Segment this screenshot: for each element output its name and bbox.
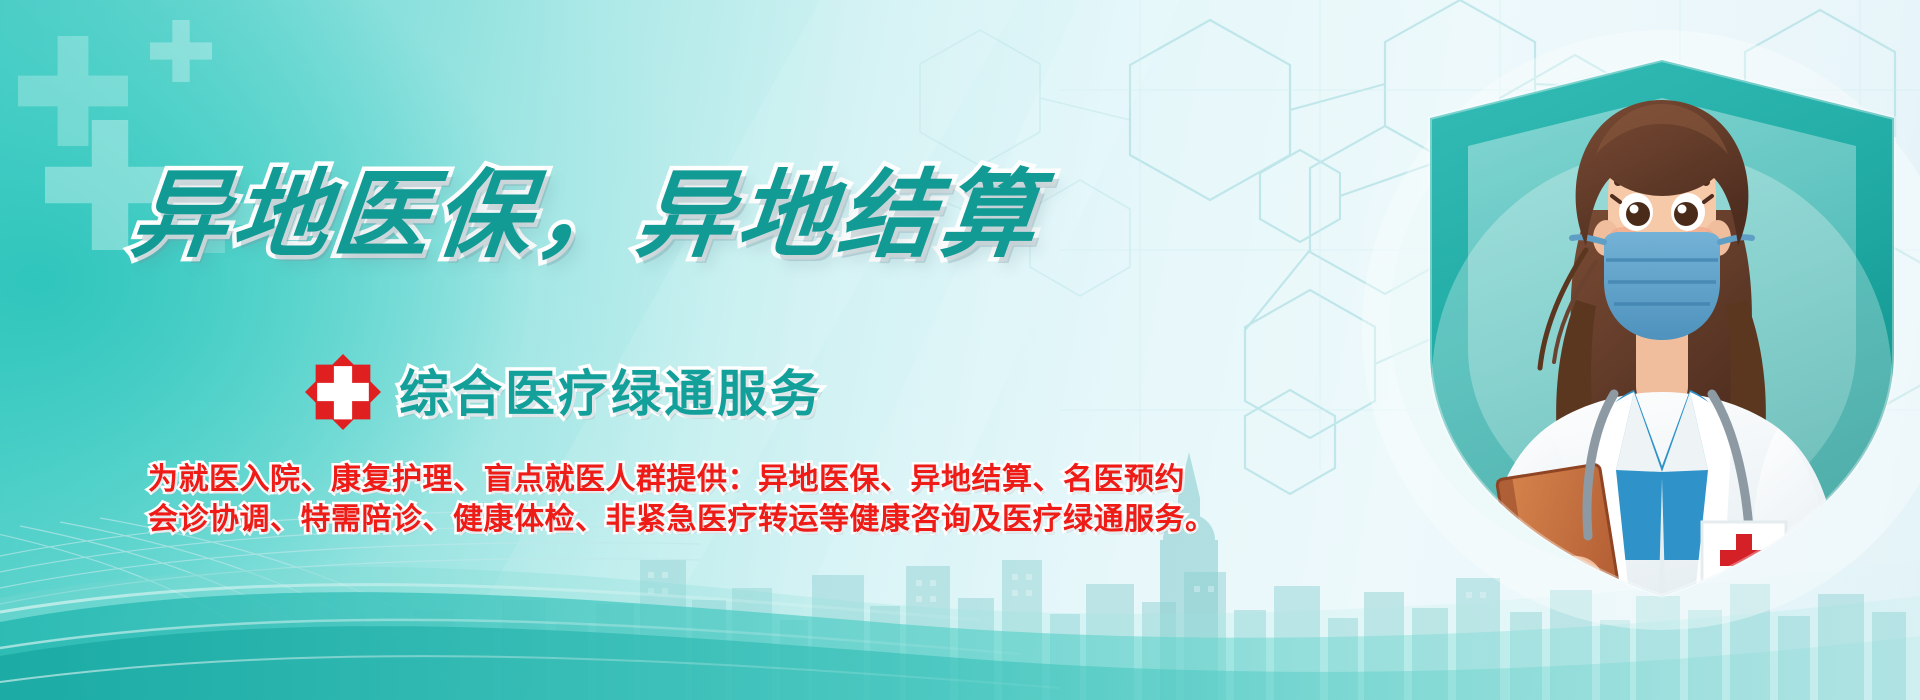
page-title: 异地医保，异地结算 [127, 168, 1046, 264]
wave-ribbons-decor [0, 0, 1920, 700]
medical-cross-badge-icon [305, 354, 381, 430]
doctor-shield-graphic [0, 0, 1920, 700]
hexagon-network-decor [0, 0, 1920, 700]
description-line-1: 为就医入院、康复护理、盲点就医人群提供：异地医保、异地结算、名医预约 [148, 460, 1068, 500]
cross-decor-icon [18, 36, 128, 146]
service-description: 为就医入院、康复护理、盲点就医人群提供：异地医保、异地结算、名医预约 会诊协调、… [148, 460, 1068, 539]
description-line-2: 会诊协调、特需陪诊、健康体检、非紧急医疗转运等健康咨询及医疗绿通服务。 [148, 500, 1068, 540]
subtitle-row: 综合医疗绿通服务 [305, 352, 823, 428]
background-crosses-decor [0, 0, 1920, 700]
page-subtitle: 综合医疗绿通服务 [399, 354, 823, 426]
cross-decor-icon [150, 20, 212, 82]
medical-banner: 异地医保，异地结算 综合医疗绿通服务 为就医入院、康复护理、盲点就医人群提供：异… [0, 0, 1920, 700]
city-skyline-decor [0, 0, 1920, 700]
